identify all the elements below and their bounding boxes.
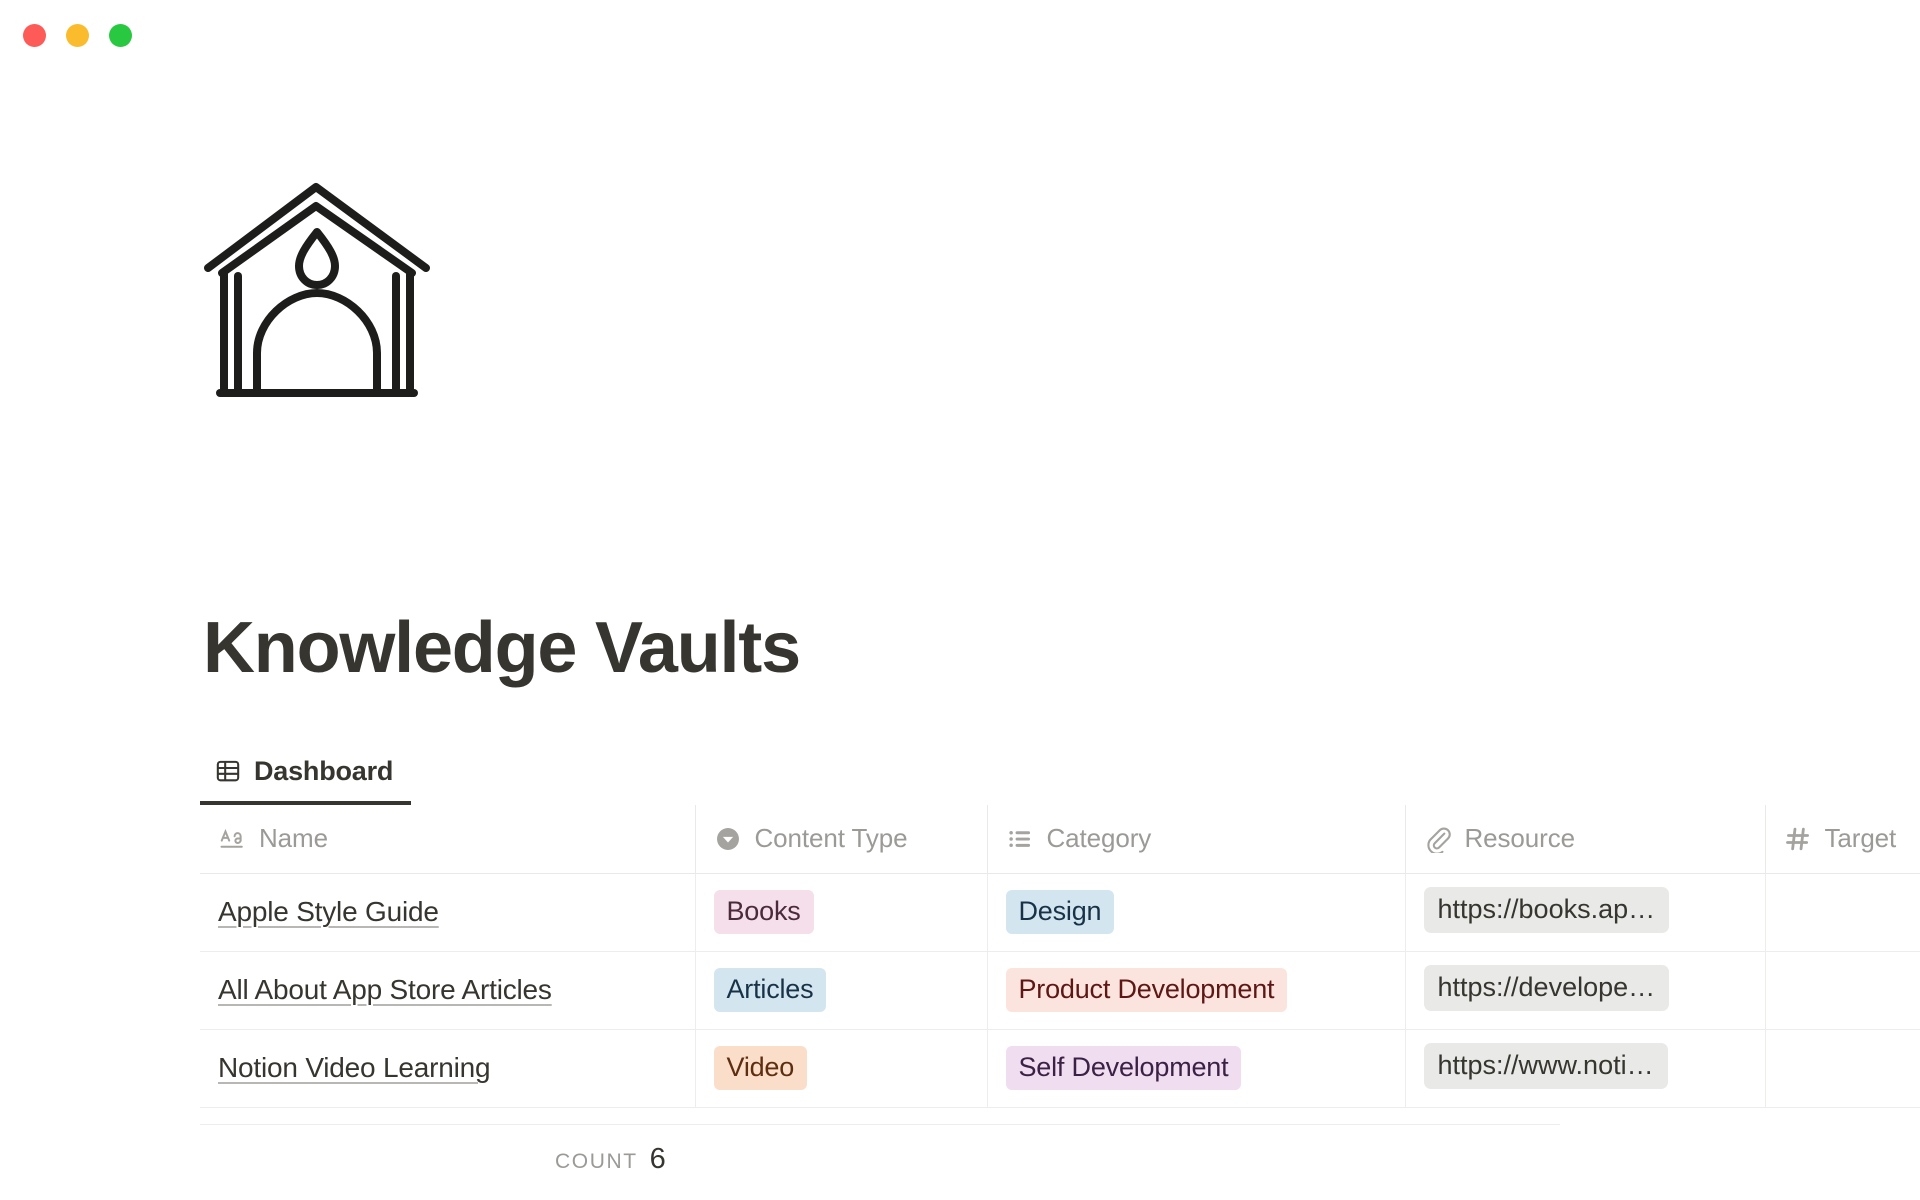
multi-select-list-icon	[1006, 825, 1034, 853]
column-header-content-type[interactable]: Content Type	[695, 805, 987, 873]
cell-content-type[interactable]: Articles	[695, 951, 987, 1029]
row-title-link[interactable]: Apple Style Guide	[218, 896, 439, 927]
table-body: Apple Style Guide Books Design https://b…	[200, 873, 1920, 1107]
tab-dashboard-label: Dashboard	[254, 756, 393, 787]
table-grid-icon	[215, 758, 241, 784]
select-chevron-circle-icon	[714, 825, 742, 853]
cell-resource[interactable]: https://books.ap…	[1405, 873, 1765, 951]
row-title-link[interactable]: All About App Store Articles	[218, 974, 552, 1005]
cell-target[interactable]	[1765, 873, 1920, 951]
count-value: 6	[650, 1143, 666, 1176]
column-header-target-label: Target	[1825, 823, 1897, 854]
cell-content-type[interactable]: Video	[695, 1029, 987, 1107]
text-aa-icon	[218, 825, 246, 853]
maximize-window-button[interactable]	[109, 24, 132, 47]
column-header-resource[interactable]: Resource	[1405, 805, 1765, 873]
column-header-resource-label: Resource	[1465, 823, 1575, 854]
paperclip-icon	[1424, 825, 1452, 853]
content-type-tag[interactable]: Video	[714, 1046, 808, 1090]
cell-resource[interactable]: https://develope…	[1405, 951, 1765, 1029]
table-row[interactable]: Notion Video Learning Video Self Develop…	[200, 1029, 1920, 1107]
resource-link[interactable]: https://develope…	[1424, 965, 1670, 1011]
cell-category[interactable]: Design	[987, 873, 1405, 951]
cell-name[interactable]: All About App Store Articles	[200, 951, 695, 1029]
database-table-container: Name Content Type	[200, 805, 1920, 1108]
category-tag[interactable]: Self Development	[1006, 1046, 1242, 1090]
database-table: Name Content Type	[200, 805, 1920, 1108]
table-header-row: Name Content Type	[200, 805, 1920, 873]
cell-category[interactable]: Product Development	[987, 951, 1405, 1029]
column-header-name[interactable]: Name	[200, 805, 695, 873]
table-row[interactable]: Apple Style Guide Books Design https://b…	[200, 873, 1920, 951]
cell-target[interactable]	[1765, 1029, 1920, 1107]
column-header-category[interactable]: Category	[987, 805, 1405, 873]
close-window-button[interactable]	[23, 24, 46, 47]
resource-link[interactable]: https://books.ap…	[1424, 887, 1670, 933]
number-hash-icon	[1784, 825, 1812, 853]
page-title: Knowledge Vaults	[203, 605, 800, 691]
count-label: COUNT	[555, 1150, 638, 1174]
hand-drawn-house-icon[interactable]	[200, 175, 435, 410]
traffic-lights	[23, 24, 132, 47]
category-tag[interactable]: Product Development	[1006, 968, 1288, 1012]
cell-target[interactable]	[1765, 951, 1920, 1029]
cell-category[interactable]: Self Development	[987, 1029, 1405, 1107]
cell-name[interactable]: Notion Video Learning	[200, 1029, 695, 1107]
cell-content-type[interactable]: Books	[695, 873, 987, 951]
column-header-name-label: Name	[259, 823, 328, 854]
view-tab-bar: Dashboard	[200, 737, 411, 805]
content-type-tag[interactable]: Books	[714, 890, 814, 934]
window-titlebar	[0, 0, 1920, 62]
row-title-link[interactable]: Notion Video Learning	[218, 1052, 490, 1083]
category-tag[interactable]: Design	[1006, 890, 1115, 934]
column-header-target[interactable]: Target	[1765, 805, 1920, 873]
database-footer: COUNT 6	[200, 1124, 1560, 1194]
tab-dashboard[interactable]: Dashboard	[200, 741, 411, 805]
content-type-tag[interactable]: Articles	[714, 968, 827, 1012]
minimize-window-button[interactable]	[66, 24, 89, 47]
cell-resource[interactable]: https://www.noti…	[1405, 1029, 1765, 1107]
cell-name[interactable]: Apple Style Guide	[200, 873, 695, 951]
resource-link[interactable]: https://www.noti…	[1424, 1043, 1668, 1089]
table-row[interactable]: All About App Store Articles Articles Pr…	[200, 951, 1920, 1029]
notion-page: Knowledge Vaults Dashboard	[0, 0, 1920, 1200]
count-summary[interactable]: COUNT 6	[555, 1143, 666, 1176]
column-header-content-type-label: Content Type	[755, 823, 908, 854]
column-header-category-label: Category	[1047, 823, 1152, 854]
